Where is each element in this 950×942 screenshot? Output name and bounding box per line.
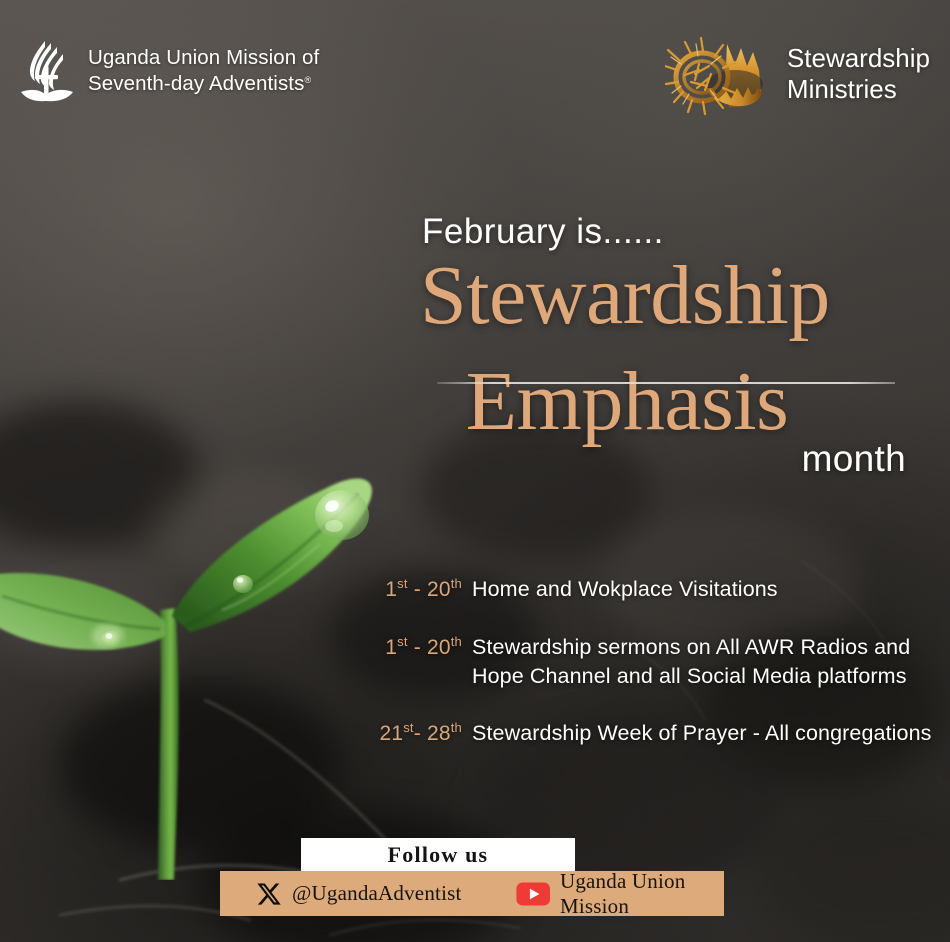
schedule-date-range: 21st- 28th xyxy=(362,719,462,748)
schedule-row: 21st- 28th Stewardship Week of Prayer - … xyxy=(362,719,947,748)
organization-name: Uganda Union Mission of Seventh-day Adve… xyxy=(88,45,319,97)
schedule-row: 1st - 20th Stewardship sermons on All AW… xyxy=(362,633,947,690)
x-handle-label: @UgandaAdventist xyxy=(292,881,462,906)
crown-of-thorns-icon xyxy=(665,30,773,118)
schedule-date-range: 1st - 20th xyxy=(362,633,462,662)
schedule-row: 1st - 20th Home and Wokplace Visitations xyxy=(362,575,947,604)
header-left-brand: Uganda Union Mission of Seventh-day Adve… xyxy=(18,38,319,104)
schedule-description: Stewardship sermons on All AWR Radios an… xyxy=(462,633,947,690)
date-start: 21 xyxy=(379,722,403,745)
date-start: 1 xyxy=(385,578,397,601)
social-links-bar: @UgandaAdventist Uganda Union Mission xyxy=(220,871,724,916)
date-start-suffix: st xyxy=(397,576,408,591)
social-link-x[interactable]: @UgandaAdventist xyxy=(256,881,462,907)
seventh-day-adventist-logo-icon xyxy=(18,38,76,104)
title-kicker: February is...... xyxy=(422,212,930,252)
date-separator: - xyxy=(414,722,427,745)
follow-us-banner: Follow us xyxy=(301,838,575,872)
follow-us-label: Follow us xyxy=(388,842,489,868)
youtube-icon[interactable] xyxy=(516,879,550,909)
date-end-suffix: th xyxy=(451,576,462,591)
x-twitter-icon[interactable] xyxy=(256,881,282,907)
poster-canvas: Uganda Union Mission of Seventh-day Adve… xyxy=(0,0,950,942)
youtube-channel-label: Uganda Union Mission xyxy=(560,869,724,919)
schedule-description: Stewardship Week of Prayer - All congreg… xyxy=(462,719,947,748)
date-start: 1 xyxy=(385,636,397,659)
registered-mark: ® xyxy=(304,75,311,85)
social-link-youtube[interactable]: Uganda Union Mission xyxy=(516,869,724,919)
ministry-name: Stewardship Ministries xyxy=(787,43,930,104)
title-line-stewardship: Stewardship xyxy=(420,256,930,336)
header-right-brand: Stewardship Ministries xyxy=(665,30,930,118)
date-end-suffix: th xyxy=(451,720,462,735)
title-line-emphasis: Emphasis xyxy=(410,360,930,444)
title-block: February is...... Stewardship Emphasis m… xyxy=(410,212,930,480)
date-separator: - xyxy=(408,636,427,659)
date-end: 20 xyxy=(427,578,451,601)
schedule-list: 1st - 20th Home and Wokplace Visitations… xyxy=(362,575,947,748)
title-divider-rule xyxy=(437,382,895,384)
schedule-description: Home and Wokplace Visitations xyxy=(462,575,947,604)
date-start-suffix: st xyxy=(403,720,414,735)
date-start-suffix: st xyxy=(397,634,408,649)
schedule-date-range: 1st - 20th xyxy=(362,575,462,604)
date-end: 20 xyxy=(427,636,451,659)
date-end: 28 xyxy=(427,722,451,745)
date-separator: - xyxy=(408,578,427,601)
date-end-suffix: th xyxy=(451,634,462,649)
